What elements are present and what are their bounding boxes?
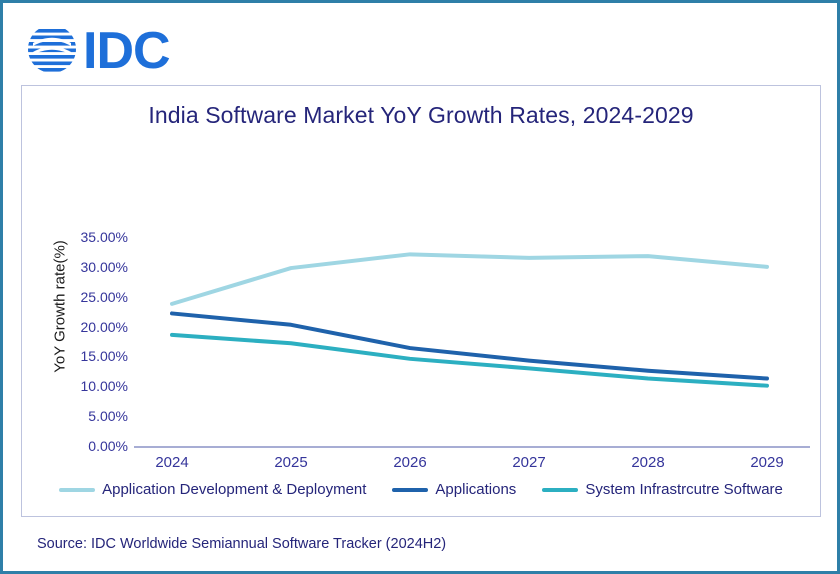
legend-item[interactable]: System Infrastrcutre Software — [542, 481, 783, 498]
x-tick-label: 2028 — [603, 454, 693, 471]
series-line — [172, 254, 767, 304]
legend-label: Applications — [435, 481, 516, 498]
y-tick-label: 0.00% — [38, 438, 128, 454]
chart-legend: Application Development & DeploymentAppl… — [21, 481, 821, 498]
y-tick-label: 25.00% — [38, 289, 128, 305]
y-tick-label: 5.00% — [38, 408, 128, 424]
y-tick-label: 30.00% — [38, 259, 128, 275]
x-tick-label: 2029 — [722, 454, 812, 471]
chart-page: IDC India Software Market YoY Growth Rat… — [0, 0, 840, 574]
x-tick-label: 2025 — [246, 454, 336, 471]
legend-swatch-icon — [59, 488, 95, 492]
y-tick-label: 10.00% — [38, 378, 128, 394]
x-tick-label: 2026 — [365, 454, 455, 471]
y-tick-label: 15.00% — [38, 348, 128, 364]
idc-logo-svg: IDC — [25, 21, 201, 77]
series-line — [172, 335, 767, 386]
legend-label: System Infrastrcutre Software — [585, 481, 783, 498]
plot-area: YoY Growth rate(%) 0.00%5.00%10.00%15.00… — [22, 86, 822, 518]
x-tick-label: 2027 — [484, 454, 574, 471]
idc-logo: IDC — [25, 21, 205, 77]
idc-wordmark: IDC — [83, 22, 170, 77]
legend-label: Application Development & Deployment — [102, 481, 366, 498]
legend-swatch-icon — [542, 488, 578, 492]
y-tick-label: 20.00% — [38, 319, 128, 335]
legend-swatch-icon — [392, 488, 428, 492]
legend-item[interactable]: Applications — [392, 481, 516, 498]
source-note: Source: IDC Worldwide Semiannual Softwar… — [37, 536, 446, 552]
x-tick-label: 2024 — [127, 454, 217, 471]
y-tick-label: 35.00% — [38, 229, 128, 245]
legend-item[interactable]: Application Development & Deployment — [59, 481, 366, 498]
idc-globe-icon — [25, 29, 79, 72]
series-line — [172, 313, 767, 378]
chart-panel: India Software Market YoY Growth Rates, … — [21, 85, 821, 517]
